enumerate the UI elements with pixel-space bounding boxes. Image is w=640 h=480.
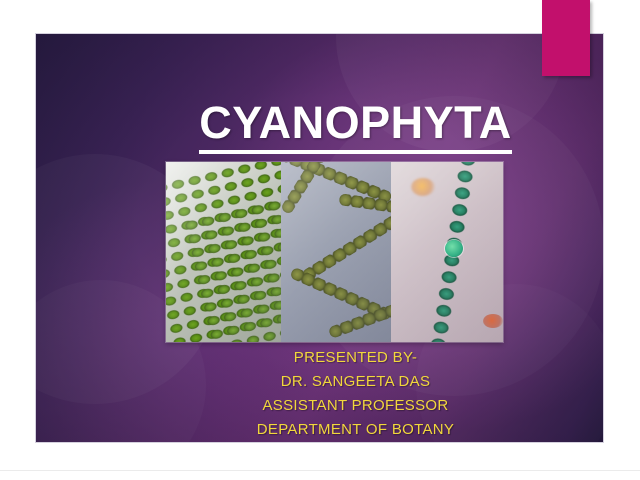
panel-sheen-overlay [391,162,503,342]
page-divider [0,470,640,471]
collage-panel-single-green-filament [391,162,503,342]
slide-title-block: CYANOPHYTA [72,100,603,154]
credit-line-author: DR. SANGEETA DAS [72,370,603,394]
page-title: CYANOPHYTA [199,100,512,154]
presentation-slide: CYANOPHYTA [36,34,603,442]
cyanophyta-microscopy-collage [166,162,503,342]
credit-line-department: DEPARTMENT OF BOTANY [72,418,603,442]
credit-line-designation: ASSISTANT PROFESSOR [72,394,603,418]
panel-sheen-overlay [281,162,391,342]
collage-panel-colonial-green-cell-grid [166,162,281,342]
accent-bar [542,0,590,76]
collage-panel-bead-chain-filaments [281,162,391,342]
document-page: CYANOPHYTA [0,0,640,480]
slide-credits-block: PRESENTED BY- DR. SANGEETA DAS ASSISTANT… [72,346,603,442]
credit-line-presented-by: PRESENTED BY- [72,346,603,370]
panel-sheen-overlay [166,162,281,342]
